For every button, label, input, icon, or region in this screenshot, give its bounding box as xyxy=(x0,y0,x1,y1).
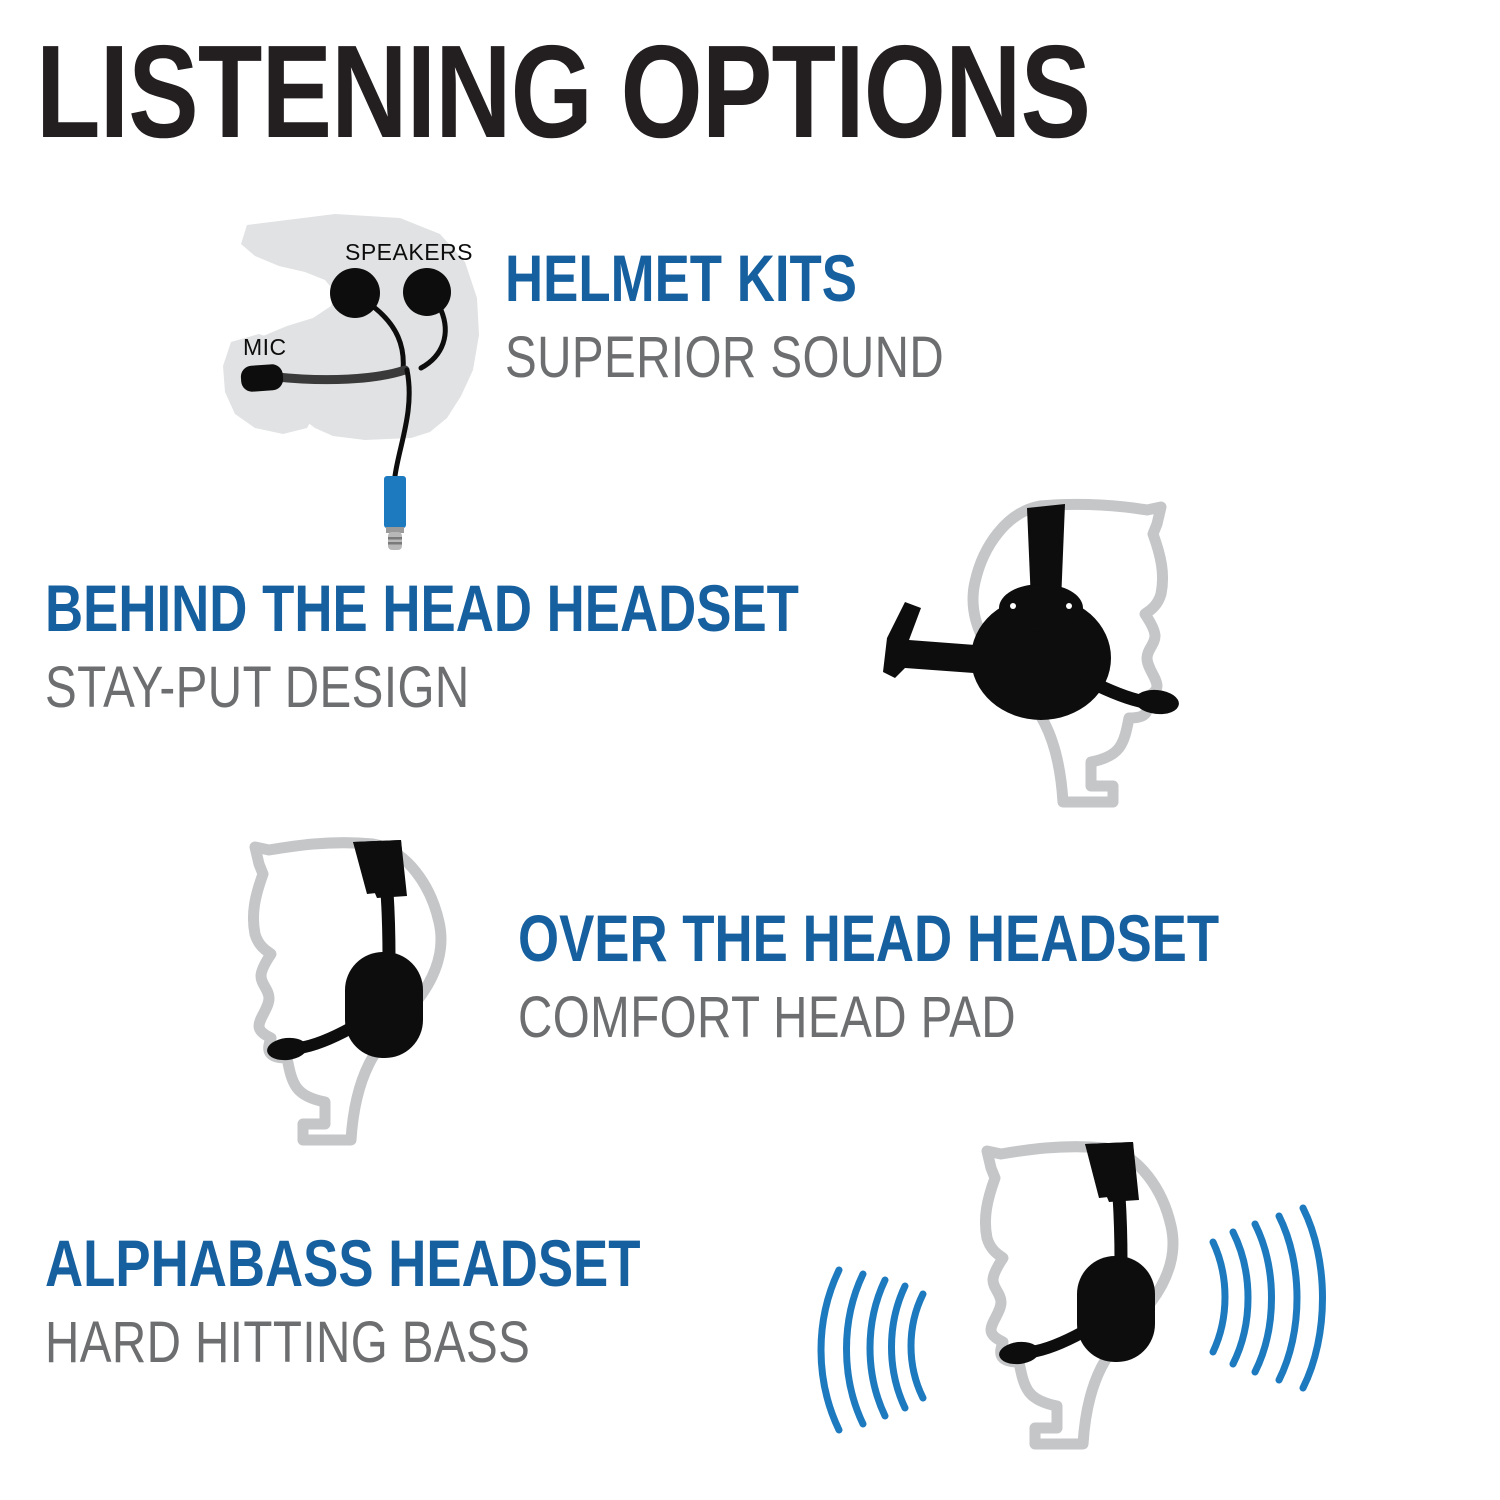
speakers-label: SPEAKERS xyxy=(345,239,473,265)
headset-comfort-pad xyxy=(353,840,405,894)
behind-the-head-headset-diagram xyxy=(865,490,1205,820)
sound-wave-arc xyxy=(911,1294,923,1398)
infographic-page: LISTENING OPTIONS xyxy=(0,0,1500,1500)
ear-cup-pivot-right xyxy=(1066,603,1072,609)
option-subtitle: SUPERIOR SOUND xyxy=(505,329,944,387)
option-title: OVER THE HEAD HEADSET xyxy=(518,905,1219,971)
option-text-alphabass-headset: ALPHABASS HEADSET HARD HITTING BASS xyxy=(45,1230,789,1372)
sound-waves-left xyxy=(821,1270,923,1430)
option-text-behind-the-head-headset: BEHIND THE HEAD HEADSET STAY-PUT DESIGN xyxy=(45,575,987,717)
sound-wave-arc xyxy=(1213,1242,1225,1352)
over-the-head-headset-diagram xyxy=(225,830,545,1150)
sound-wave-arc xyxy=(821,1270,839,1430)
option-row-behind-the-head-headset: BEHIND THE HEAD HEADSET STAY-PUT DESIGN xyxy=(0,490,1500,830)
sound-wave-arc xyxy=(870,1280,885,1416)
sound-wave-arc xyxy=(1303,1208,1323,1388)
ear-cup xyxy=(1077,1256,1155,1362)
helmet-speaker-right-icon xyxy=(403,268,451,316)
helmet-speaker-left-icon xyxy=(330,268,380,318)
option-title: ALPHABASS HEADSET xyxy=(45,1230,641,1296)
sound-waves-right xyxy=(1213,1208,1323,1388)
option-row-over-the-head-headset: OVER THE HEAD HEADSET COMFORT HEAD PAD xyxy=(0,820,1500,1150)
option-text-helmet-kits: HELMET KITS SUPERIOR SOUND xyxy=(505,245,1041,387)
headset-yoke xyxy=(1119,1196,1121,1262)
option-subtitle: COMFORT HEAD PAD xyxy=(518,989,1237,1047)
sound-wave-arc xyxy=(1233,1232,1248,1364)
ear-cup-pivot-left xyxy=(1010,603,1016,609)
page-title: LISTENING OPTIONS xyxy=(36,26,1090,158)
sound-wave-arc xyxy=(892,1286,906,1408)
headset-comfort-pad xyxy=(1085,1142,1137,1198)
option-text-over-the-head-headset: OVER THE HEAD HEADSET COMFORT HEAD PAD xyxy=(518,905,1394,1047)
option-subtitle: STAY-PUT DESIGN xyxy=(45,659,818,717)
option-title: HELMET KITS xyxy=(505,245,933,311)
option-title: BEHIND THE HEAD HEADSET xyxy=(45,575,799,641)
alphabass-headset-diagram xyxy=(795,1130,1340,1480)
option-subtitle: HARD HITTING BASS xyxy=(45,1314,655,1372)
mic-label: MIC xyxy=(243,334,287,360)
ear-cup xyxy=(345,952,423,1058)
mic-boom xyxy=(299,1028,351,1048)
headset-yoke xyxy=(387,892,389,958)
helmet-mic-capsule-icon xyxy=(240,364,284,393)
mic-boom xyxy=(1031,1332,1083,1352)
sound-wave-arc xyxy=(1255,1224,1272,1372)
sound-wave-arc xyxy=(847,1274,864,1424)
option-row-alphabass-headset: ALPHABASS HEADSET HARD HITTING BASS xyxy=(0,1130,1500,1490)
sound-wave-arc xyxy=(1279,1216,1297,1380)
